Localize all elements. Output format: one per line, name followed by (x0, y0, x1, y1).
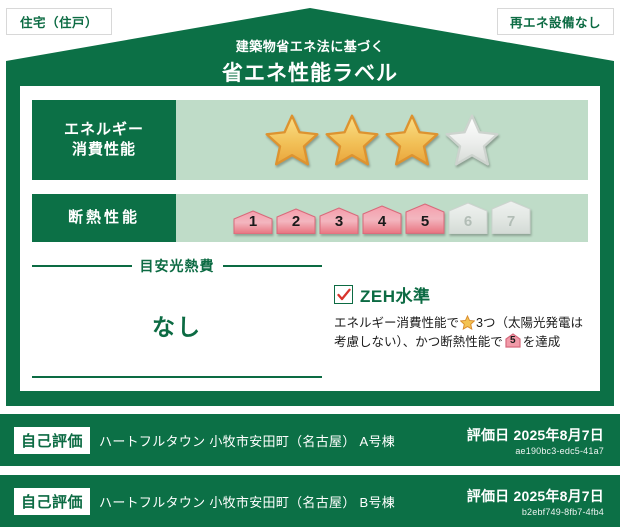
zeh-title: ZEH水準 (360, 282, 431, 307)
insulation-level-number: 7 (491, 213, 531, 230)
insulation-level-number: 5 (405, 213, 445, 230)
building-type-tag: 住宅（住戸） (6, 8, 112, 35)
insulation-level-7: 7 (491, 200, 531, 234)
insulation-level-number: 2 (276, 213, 316, 230)
insulation-level-number: 4 (362, 213, 402, 230)
panel-gap-two (6, 466, 614, 475)
inline-star-icon (460, 315, 475, 330)
evaluation-date: 評価日 2025年8月7日 (467, 425, 604, 445)
zeh-desc-part2: 3つ（太陽光発電 (476, 316, 570, 330)
evaluation-meta: 評価日 2025年8月7日 b2ebf749-8fb7-4fb4 (467, 486, 604, 517)
utility-cost-bottom-rule (32, 376, 322, 378)
utility-cost-heading: 目安光熱費 (32, 256, 322, 276)
zeh-checkbox[interactable] (334, 285, 353, 304)
utility-cost-block: 目安光熱費 なし (32, 256, 322, 342)
insulation-level-2: 2 (276, 208, 316, 234)
star-filled-icon (264, 113, 320, 167)
utility-cost-value: なし (32, 308, 322, 342)
energy-performance-label: エネルギー 消費性能 (32, 100, 176, 180)
star-empty-icon (444, 113, 500, 167)
insulation-performance-label: 断熱性能 (32, 194, 176, 242)
insulation-level-1: 1 (233, 210, 273, 234)
label-title-block: 建築物省エネ法に基づく 省エネ性能ラベル (0, 36, 620, 87)
inline-insulation-badge-number: 5 (505, 333, 521, 349)
insulation-house-scale: 1234567 (233, 200, 531, 234)
label-title: 省エネ性能ラベル (0, 57, 620, 87)
energy-star-rating (176, 100, 588, 180)
evaluation-hash: b2ebf749-8fb7-4fb4 (467, 507, 604, 517)
evaluation-date-value: 2025年8月7日 (513, 427, 604, 443)
utility-cost-rule-left (32, 265, 132, 267)
zeh-block: ZEH水準 エネルギー消費性能で 3つ（太陽光発電は考慮しない）、かつ断熱性能で… (334, 282, 588, 353)
evaluation-date: 評価日 2025年8月7日 (467, 486, 604, 506)
evaluation-row: 自己評価 ハートフルタウン 小牧市安田町（名古屋） B号棟 評価日 2025年8… (0, 475, 620, 527)
zeh-desc-part4: を達成 (523, 335, 561, 349)
insulation-level-number: 3 (319, 213, 359, 230)
star-filled-icon (384, 113, 440, 167)
zeh-desc-part1: エネルギー消費性能で (334, 316, 459, 330)
evaluation-property-name: ハートフルタウン 小牧市安田町（名古屋） B号棟 (99, 492, 467, 511)
evaluation-date-label: 評価日 (467, 488, 510, 504)
insulation-level-5: 5 (405, 203, 445, 233)
evaluation-date-value: 2025年8月7日 (513, 488, 604, 504)
evaluation-meta: 評価日 2025年8月7日 ae190bc3-edc5-41a7 (467, 425, 604, 456)
insulation-level-number: 6 (448, 213, 488, 230)
evaluation-badge: 自己評価 (14, 427, 90, 454)
evaluation-date-label: 評価日 (467, 427, 510, 443)
insulation-level-3: 3 (319, 207, 359, 234)
energy-performance-label-line2: 消費性能 (72, 140, 136, 160)
insulation-rating: 1234567 (176, 194, 588, 242)
panel-gap-one (6, 406, 614, 414)
insulation-level-4: 4 (362, 205, 402, 234)
insulation-performance-row: 断熱性能 1234567 (32, 194, 588, 242)
renewable-equipment-tag: 再エネ設備なし (497, 8, 614, 35)
star-filled-icon (324, 113, 380, 167)
zeh-heading: ZEH水準 (334, 282, 588, 307)
energy-performance-row: エネルギー 消費性能 (32, 100, 588, 180)
zeh-description: エネルギー消費性能で 3つ（太陽光発電は考慮しない）、かつ断熱性能で 5を達成 (334, 314, 588, 353)
label-subtitle: 建築物省エネ法に基づく (0, 36, 620, 55)
evaluation-property-name: ハートフルタウン 小牧市安田町（名古屋） A号棟 (99, 431, 467, 450)
energy-performance-label-line1: エネルギー (64, 120, 144, 140)
evaluation-badge: 自己評価 (14, 488, 90, 515)
inline-insulation-badge: 5 (505, 333, 521, 348)
evaluation-hash: ae190bc3-edc5-41a7 (467, 446, 604, 456)
energy-label-root: 住宅（住戸） 再エネ設備なし 建築物省エネ法に基づく 省エネ性能ラベル エネルギ… (0, 0, 620, 527)
insulation-level-6: 6 (448, 202, 488, 234)
utility-cost-heading-text: 目安光熱費 (140, 256, 215, 276)
insulation-level-number: 1 (233, 213, 273, 230)
evaluation-row: 自己評価 ハートフルタウン 小牧市安田町（名古屋） A号棟 評価日 2025年8… (0, 414, 620, 466)
utility-cost-rule-right (223, 265, 323, 267)
